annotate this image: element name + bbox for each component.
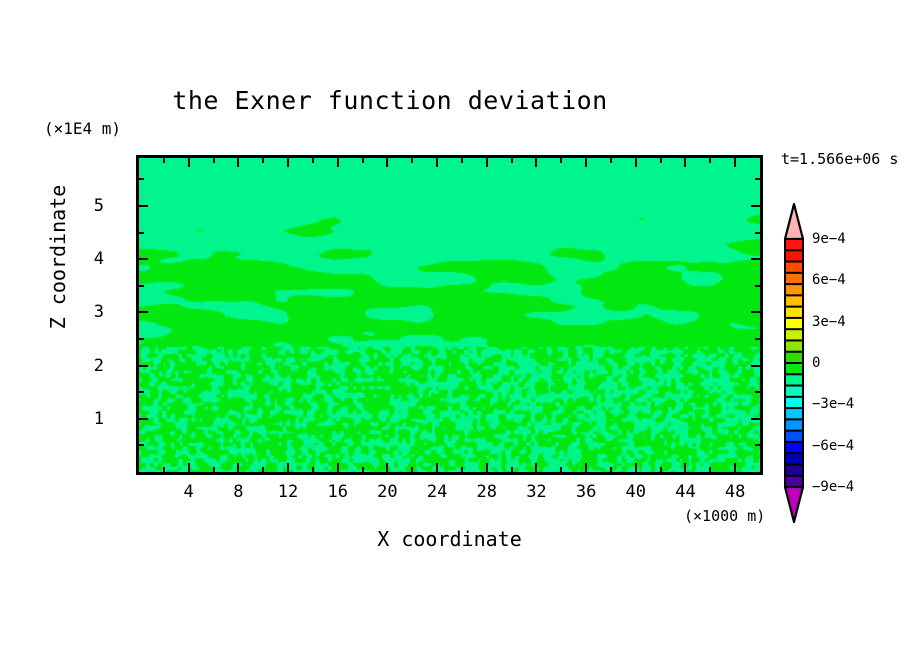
x-axis-minor-tick [213,158,215,163]
x-axis-tick-top [734,158,736,167]
x-axis-title: X coordinate [136,527,763,551]
y-axis-tick-label: 1 [94,409,104,429]
x-axis-minor-tick [213,467,215,472]
page-title: the Exner function deviation [0,86,780,115]
x-axis-tick-top [535,158,537,167]
y-axis-tick-right [751,311,760,313]
x-axis-minor-tick [362,467,364,472]
x-axis-minor-tick [461,158,463,163]
y-axis-minor-tick [139,444,144,446]
x-axis-tick [635,463,637,472]
x-axis-minor-tick [262,158,264,163]
colorbar-cell [785,431,803,443]
colorbar-cell [785,419,803,431]
x-axis-tick [337,463,339,472]
x-axis-tick [386,463,388,472]
x-axis-tick-label: 44 [675,482,695,502]
x-axis-tick-label: 48 [725,482,745,502]
colorbar-cell [785,307,803,319]
y-axis-minor-tick-right [755,338,760,340]
x-axis-minor-tick [163,467,165,472]
x-axis-minor-tick [461,467,463,472]
colorbar-cell [785,363,803,375]
x-axis-tick [287,463,289,472]
x-axis-tick-label: 36 [576,482,596,502]
colorbar-under-arrow [785,487,803,522]
colorbar-cell [785,374,803,386]
x-axis-tick-top [188,158,190,167]
x-axis-minor-tick [560,158,562,163]
y-axis-tick-right [751,258,760,260]
x-axis-minor-tick [411,158,413,163]
y-axis-minor-tick-right [755,178,760,180]
x-axis-tick [585,463,587,472]
x-axis-minor-tick [610,467,612,472]
x-axis-minor-tick [362,158,364,163]
x-axis-tick-top [635,158,637,167]
y-axis-minor-tick [139,338,144,340]
colorbar-cell [785,386,803,398]
y-axis-tick-label: 5 [94,196,104,216]
y-axis-minor-tick [139,285,144,287]
x-axis-tick [684,463,686,472]
colorbar-cell [785,329,803,341]
x-axis-minor-tick [560,467,562,472]
x-axis-minor-tick [262,467,264,472]
x-axis-minor-tick [411,467,413,472]
y-axis-tick-label: 3 [94,302,104,322]
x-axis-tick-label: 24 [427,482,447,502]
x-axis-tick-top [436,158,438,167]
x-axis-tick-top [585,158,587,167]
y-axis-tick-label: 2 [94,356,104,376]
x-axis-minor-tick [610,158,612,163]
colorbar-cell [785,284,803,296]
y-axis-minor-tick [139,178,144,180]
x-axis-tick-top [684,158,686,167]
contour-plot-area [136,155,763,475]
colorbar-cell [785,453,803,465]
colorbar-tick-label: 6e−4 [812,272,846,288]
x-axis-minor-tick [312,467,314,472]
colorbar-tick-label: −9e−4 [812,479,854,495]
x-axis-tick-label: 40 [626,482,646,502]
y-axis-tick-right [751,205,760,207]
x-axis-tick-top [237,158,239,167]
x-axis-tick-label: 28 [477,482,497,502]
x-axis-minor-tick [511,158,513,163]
colorbar-cell [785,352,803,364]
x-axis-tick-label: 32 [526,482,546,502]
y-axis-minor-tick-right [755,444,760,446]
y-axis-minor-tick-right [755,232,760,234]
colorbar-tick-label: −3e−4 [812,396,854,412]
x-axis-minor-tick [660,467,662,472]
colorbar-cell [785,262,803,274]
y-axis-tick [139,418,148,420]
colorbar-cell [785,239,803,251]
x-axis-tick [486,463,488,472]
x-axis-tick-top [337,158,339,167]
x-axis-tick-label: 20 [377,482,397,502]
x-axis-minor-tick [709,467,711,472]
y-axis-tick-label: 4 [94,249,104,269]
x-axis-tick-top [486,158,488,167]
colorbar-cell [785,442,803,454]
x-axis-tick-label: 8 [233,482,243,502]
colorbar-cell [785,250,803,262]
x-axis-minor-tick [511,467,513,472]
y-axis-tick [139,365,148,367]
colorbar-cell [785,295,803,307]
colorbar-tick-label: 9e−4 [812,231,846,247]
x-axis-unit-label: (×1000 m) [684,507,765,525]
contour-field-canvas [139,158,760,472]
x-axis-tick-label: 16 [327,482,347,502]
x-axis-minor-tick [709,158,711,163]
x-axis-tick [535,463,537,472]
colorbar [783,203,805,523]
colorbar-swatches [783,203,805,523]
colorbar-tick-label: 0 [812,355,820,371]
y-axis-tick-right [751,365,760,367]
x-axis-tick [436,463,438,472]
x-axis-tick-label: 4 [184,482,194,502]
x-axis-tick [188,463,190,472]
y-axis-unit-label: (×1E4 m) [44,119,121,138]
colorbar-cell [785,273,803,285]
x-axis-minor-tick [660,158,662,163]
colorbar-cell [785,318,803,330]
colorbar-cell [785,408,803,420]
x-axis-tick [734,463,736,472]
y-axis-minor-tick [139,232,144,234]
colorbar-tick-label: −6e−4 [812,438,854,454]
x-axis-tick-label: 12 [278,482,298,502]
y-axis-tick [139,311,148,313]
colorbar-over-arrow [785,204,803,239]
colorbar-cell [785,476,803,488]
colorbar-tick-label: 3e−4 [812,314,846,330]
y-axis-tick-right [751,418,760,420]
x-axis-tick-top [386,158,388,167]
timestamp-annotation: t=1.566e+06 s [781,150,898,168]
y-axis-tick [139,258,148,260]
y-axis-tick [139,205,148,207]
y-axis-title: Z coordinate [46,137,70,377]
colorbar-cell [785,464,803,476]
y-axis-minor-tick-right [755,285,760,287]
x-axis-tick [237,463,239,472]
x-axis-minor-tick [163,158,165,163]
y-axis-minor-tick [139,391,144,393]
x-axis-tick-top [287,158,289,167]
colorbar-cell [785,340,803,352]
colorbar-cell [785,397,803,409]
y-axis-minor-tick-right [755,391,760,393]
x-axis-minor-tick [312,158,314,163]
